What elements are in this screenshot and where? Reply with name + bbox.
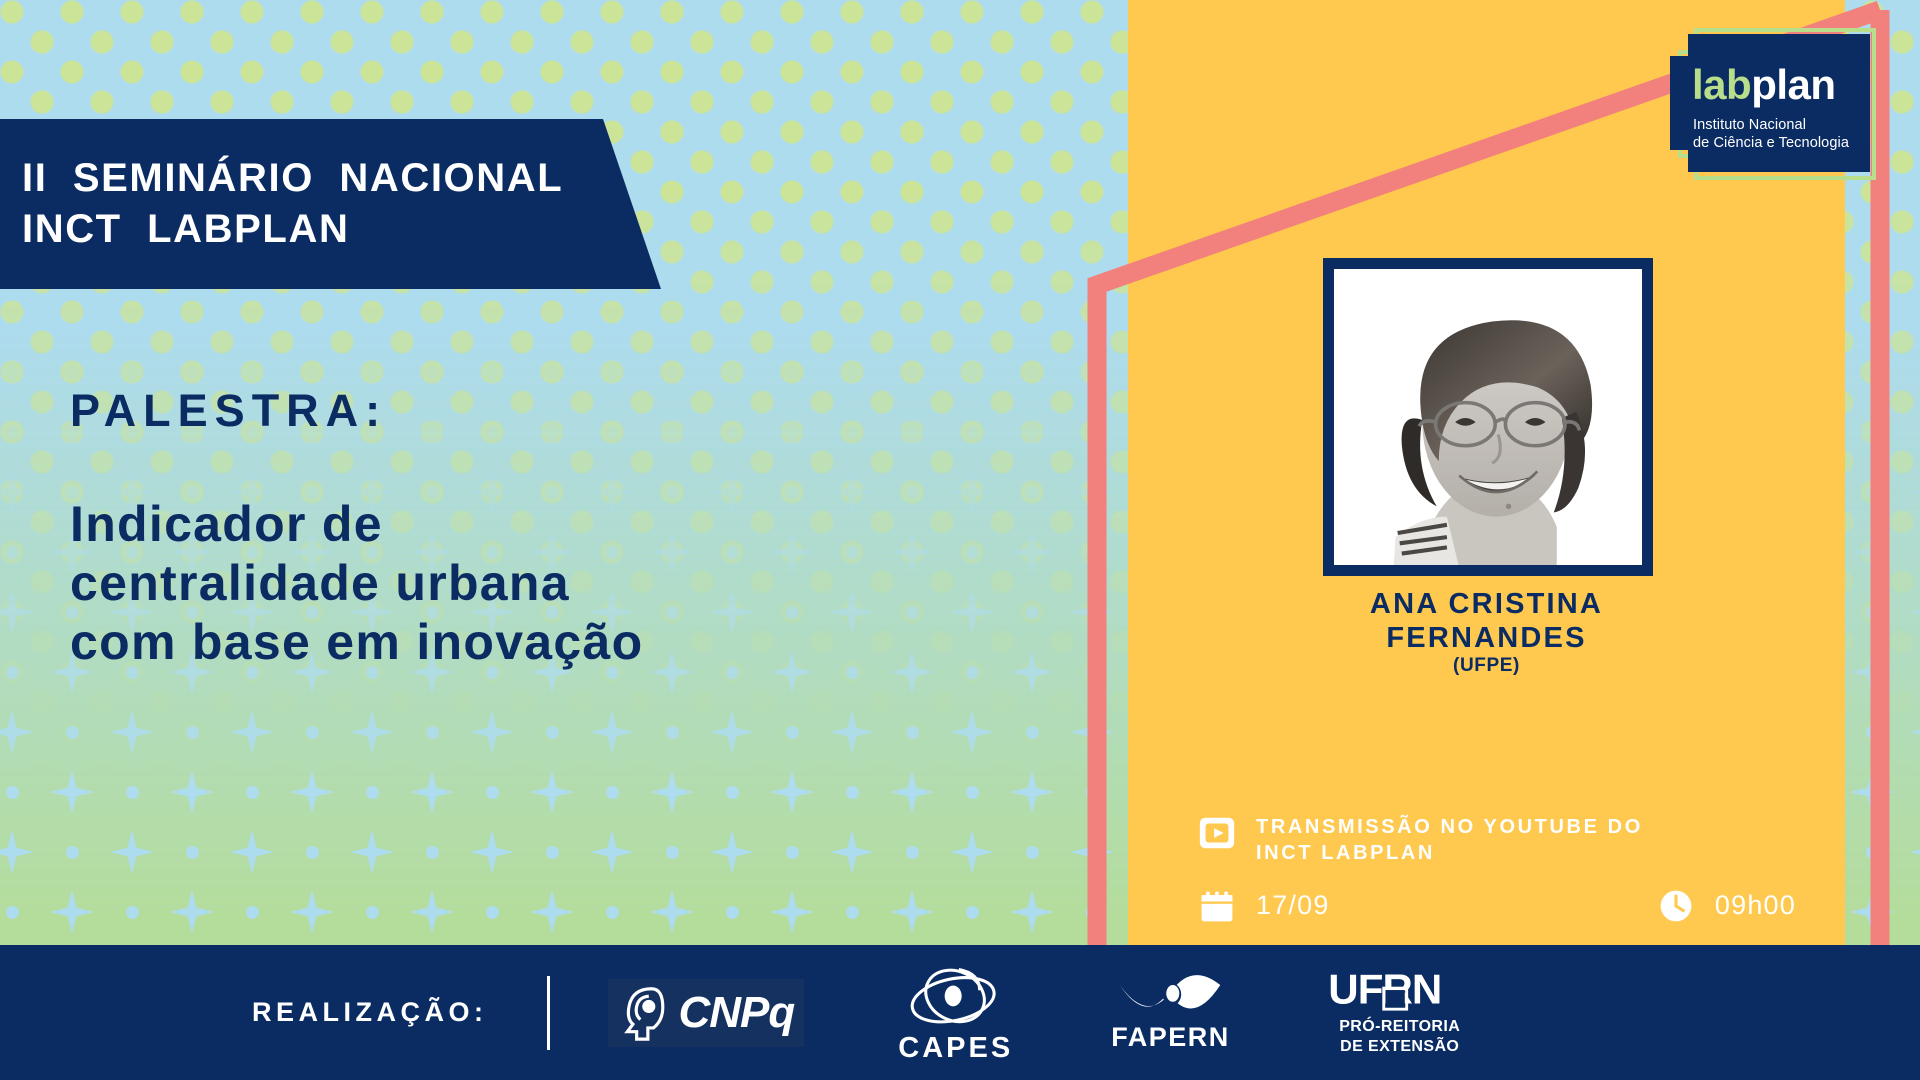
background-star [1910, 230, 1920, 274]
background-star [50, 890, 94, 934]
background-star [710, 590, 754, 634]
background-star [0, 470, 34, 514]
background-dot [726, 666, 739, 679]
cnpq-mark-icon [618, 983, 674, 1043]
background-star [110, 710, 154, 754]
background-star [710, 710, 754, 754]
clock-icon [1655, 885, 1697, 927]
background-star [530, 410, 574, 454]
background-dot [6, 306, 19, 319]
background-star [770, 770, 814, 814]
background-star [830, 350, 874, 394]
background-dot [6, 906, 19, 919]
background-star [1010, 50, 1054, 94]
background-dot [1086, 426, 1099, 439]
labplan-word-lab: lab [1692, 61, 1751, 108]
background-star [1850, 410, 1894, 454]
calendar-icon [1196, 885, 1238, 927]
footer-divider [547, 976, 550, 1050]
background-star [110, 830, 154, 874]
background-star [770, 530, 814, 574]
background-dot [1026, 366, 1039, 379]
background-star [830, 470, 874, 514]
speaker-portrait-illustration [1334, 269, 1642, 565]
background-star [1010, 650, 1054, 694]
background-star [470, 710, 514, 754]
background-star [770, 410, 814, 454]
background-dot [966, 666, 979, 679]
speaker-name: ANA CRISTINA FERNANDES [1128, 588, 1845, 655]
footer-logos: CNPq CAPES [608, 960, 1920, 1065]
background-star [1850, 770, 1894, 814]
background-dot [1086, 546, 1099, 559]
background-dot [666, 846, 679, 859]
background-star [110, 0, 154, 34]
background-star [890, 410, 934, 454]
background-dot [1086, 906, 1099, 919]
poster-canvas: II SEMINÁRIO NACIONAL INCT LABPLAN PALES… [0, 0, 1920, 1080]
background-dot [1026, 246, 1039, 259]
background-dot [426, 846, 439, 859]
labplan-subtitle-line-2: de Ciência e Tecnologia [1693, 134, 1849, 152]
background-dot [846, 186, 859, 199]
background-star [530, 770, 574, 814]
background-star [350, 830, 394, 874]
transmission-row: TRANSMISSÃO NO YOUTUBE DO INCT LABPLAN [1196, 812, 1796, 867]
background-star [590, 350, 634, 394]
background-star [890, 290, 934, 334]
background-dot [846, 906, 859, 919]
background-star [890, 530, 934, 574]
background-star [290, 290, 334, 334]
background-star [1010, 890, 1054, 934]
background-dot [846, 666, 859, 679]
background-star [1850, 290, 1894, 334]
background-star [230, 0, 274, 34]
background-dot [966, 66, 979, 79]
background-star [770, 170, 814, 214]
background-star [1910, 830, 1920, 874]
background-star [710, 350, 754, 394]
background-dot [246, 66, 259, 79]
ufrn-subtitle: PRÓ-REITORIA DE EXTENSÃO [1339, 1017, 1460, 1055]
background-star [830, 710, 874, 754]
background-star [0, 350, 34, 394]
background-dot [486, 426, 499, 439]
background-dot [66, 366, 79, 379]
background-dot [546, 6, 559, 19]
cnpq-logo: CNPq [608, 979, 804, 1047]
time-item: 09h00 [1655, 885, 1796, 927]
background-star [230, 830, 274, 874]
background-star [350, 710, 394, 754]
background-dot [246, 906, 259, 919]
background-dot [66, 6, 79, 19]
background-star [410, 290, 454, 334]
date-text: 17/09 [1256, 890, 1330, 921]
background-star [0, 0, 34, 34]
background-star [50, 290, 94, 334]
background-star [770, 890, 814, 934]
background-star [0, 830, 34, 874]
background-dot [546, 366, 559, 379]
fapern-mark-icon [1114, 972, 1226, 1026]
background-star [1850, 890, 1894, 934]
speaker-name-line-1: ANA CRISTINA [1128, 588, 1845, 622]
background-star [1070, 470, 1114, 514]
background-dot [1866, 726, 1879, 739]
background-dot [666, 126, 679, 139]
background-dot [306, 846, 319, 859]
background-dot [846, 426, 859, 439]
background-star [950, 710, 994, 754]
background-dot [486, 66, 499, 79]
labplan-word-plan: plan [1751, 61, 1835, 108]
background-star [1010, 410, 1054, 454]
background-star [950, 0, 994, 34]
background-dot [1866, 846, 1879, 859]
background-star [530, 290, 574, 334]
background-dot [486, 306, 499, 319]
background-dot [606, 66, 619, 79]
background-star [1910, 590, 1920, 634]
background-star [170, 770, 214, 814]
background-dot [1866, 606, 1879, 619]
time-text: 09h00 [1715, 890, 1796, 921]
background-star [590, 0, 634, 34]
background-dot [126, 306, 139, 319]
background-star [350, 0, 394, 34]
background-star [890, 50, 934, 94]
background-star [950, 110, 994, 154]
background-star [590, 830, 634, 874]
background-dot [786, 366, 799, 379]
background-star [1070, 710, 1114, 754]
background-dot [726, 786, 739, 799]
background-star [410, 890, 454, 934]
background-star [650, 890, 694, 934]
background-star [770, 50, 814, 94]
background-dot [606, 786, 619, 799]
background-dot [306, 6, 319, 19]
capes-wordmark: CAPES [898, 1032, 1013, 1065]
capes-logo: CAPES [898, 960, 1013, 1065]
background-star [770, 290, 814, 334]
background-dot [1086, 786, 1099, 799]
background-dot [606, 426, 619, 439]
speaker-photo-frame [1323, 258, 1653, 576]
background-star [170, 290, 214, 334]
background-star [470, 350, 514, 394]
background-star [1070, 230, 1114, 274]
background-dot [6, 546, 19, 559]
background-dot [786, 126, 799, 139]
background-dot [186, 366, 199, 379]
background-dot [6, 786, 19, 799]
background-dot [366, 786, 379, 799]
background-star [830, 830, 874, 874]
date-item: 17/09 [1196, 885, 1330, 927]
background-dot [1026, 6, 1039, 19]
background-dot [546, 726, 559, 739]
background-dot [966, 546, 979, 559]
background-star [50, 770, 94, 814]
background-dot [606, 306, 619, 319]
background-dot [426, 6, 439, 19]
fapern-wordmark: FAPERN [1111, 1022, 1230, 1053]
background-star [290, 770, 334, 814]
background-star [1010, 770, 1054, 814]
background-star [830, 0, 874, 34]
background-dot [906, 126, 919, 139]
speaker-affiliation: (UFPE) [1128, 655, 1845, 677]
background-dot [1026, 846, 1039, 859]
background-dot [726, 426, 739, 439]
background-dot [1866, 366, 1879, 379]
labplan-subtitle-line-1: Instituto Nacional [1693, 116, 1849, 134]
background-dot [1026, 126, 1039, 139]
background-star [950, 590, 994, 634]
background-dot [246, 786, 259, 799]
fapern-logo: FAPERN [1111, 972, 1230, 1053]
background-dot [966, 906, 979, 919]
background-star [1910, 710, 1920, 754]
background-star [890, 770, 934, 814]
background-dot [786, 6, 799, 19]
transmission-text-line-2: INCT LABPLAN [1256, 842, 1435, 864]
background-star [1850, 530, 1894, 574]
background-star [410, 410, 454, 454]
background-star [650, 290, 694, 334]
background-dot [366, 906, 379, 919]
transmission-text: TRANSMISSÃO NO YOUTUBE DO INCT LABPLAN [1256, 812, 1643, 867]
background-star [230, 710, 274, 754]
event-title-banner: II SEMINÁRIO NACIONAL INCT LABPLAN [0, 119, 665, 289]
background-dot [1086, 306, 1099, 319]
background-star [290, 50, 334, 94]
background-dot [1866, 486, 1879, 499]
background-dot [846, 306, 859, 319]
background-dot [126, 906, 139, 919]
background-dot [906, 6, 919, 19]
background-dot [846, 786, 859, 799]
ufrn-subtitle-line-1: PRÓ-REITORIA [1339, 1017, 1460, 1036]
background-dot [1026, 726, 1039, 739]
footer-bar: REALIZAÇÃO: CNPq [0, 945, 1920, 1080]
background-dot [1026, 486, 1039, 499]
background-star [830, 590, 874, 634]
background-star [1010, 170, 1054, 214]
background-dot [726, 306, 739, 319]
background-dot [846, 546, 859, 559]
background-star [950, 830, 994, 874]
background-star [0, 590, 34, 634]
background-dot [906, 366, 919, 379]
background-dot [306, 366, 319, 379]
background-dot [786, 486, 799, 499]
background-dot [186, 726, 199, 739]
background-dot [666, 366, 679, 379]
background-dot [966, 186, 979, 199]
background-dot [1866, 6, 1879, 19]
background-star [1850, 650, 1894, 694]
labplan-logo: labplan Instituto Nacional de Ciência e … [1660, 28, 1882, 180]
background-dot [786, 726, 799, 739]
background-star [890, 170, 934, 214]
background-dot [1866, 246, 1879, 259]
background-dot [846, 66, 859, 79]
background-dot [726, 546, 739, 559]
youtube-icon [1196, 812, 1238, 854]
background-dot [906, 486, 919, 499]
background-dot [906, 726, 919, 739]
background-dot [966, 426, 979, 439]
background-dot [6, 426, 19, 439]
background-star [710, 110, 754, 154]
background-star [710, 830, 754, 874]
background-star [1070, 350, 1114, 394]
background-dot [726, 186, 739, 199]
background-star [1910, 110, 1920, 154]
background-star [890, 650, 934, 694]
background-star [770, 650, 814, 694]
talk-kicker: PALESTRA: [70, 385, 387, 437]
background-star [50, 50, 94, 94]
background-star [710, 0, 754, 34]
background-star [410, 50, 454, 94]
background-star [530, 50, 574, 94]
background-dot [6, 666, 19, 679]
background-star [950, 230, 994, 274]
background-star [1010, 530, 1054, 574]
background-dot [126, 786, 139, 799]
background-dot [1026, 606, 1039, 619]
background-dot [666, 246, 679, 259]
background-dot [546, 846, 559, 859]
cnpq-wordmark: CNPq [678, 988, 794, 1038]
background-dot [1086, 666, 1099, 679]
background-star [650, 170, 694, 214]
background-dot [786, 246, 799, 259]
background-star [710, 230, 754, 274]
background-dot [666, 726, 679, 739]
background-star [1070, 0, 1114, 34]
background-dot [6, 66, 19, 79]
labplan-wordmark: labplan [1692, 64, 1836, 106]
background-star [1910, 0, 1920, 34]
background-star [170, 50, 214, 94]
background-dot [1086, 66, 1099, 79]
background-dot [966, 786, 979, 799]
realizacao-label: REALIZAÇÃO: [252, 997, 487, 1028]
background-star [650, 770, 694, 814]
background-star [710, 470, 754, 514]
background-star [470, 830, 514, 874]
background-star [1910, 350, 1920, 394]
background-star [890, 890, 934, 934]
background-dot [726, 906, 739, 919]
event-title-line-2: INCT LABPLAN [22, 204, 665, 255]
background-dot [366, 66, 379, 79]
speaker-photo [1334, 269, 1642, 565]
background-dot [606, 906, 619, 919]
background-star [650, 410, 694, 454]
background-dot [906, 246, 919, 259]
background-dot [186, 846, 199, 859]
background-dot [906, 606, 919, 619]
ufrn-subtitle-line-2: DE EXTENSÃO [1339, 1037, 1460, 1056]
background-star [590, 710, 634, 754]
speaker-name-line-2: FERNANDES [1128, 622, 1845, 656]
background-star [650, 50, 694, 94]
capes-mark-icon [904, 960, 1008, 1030]
background-star [1910, 470, 1920, 514]
background-dot [246, 306, 259, 319]
datetime-row: 17/09 09h00 [1196, 885, 1796, 927]
background-dot [66, 726, 79, 739]
background-dot [426, 726, 439, 739]
background-dot [186, 6, 199, 19]
background-dot [486, 906, 499, 919]
transmission-text-line-1: TRANSMISSÃO NO YOUTUBE DO [1256, 816, 1643, 838]
ufrn-logo: UFRN PRÓ-REITORIA DE EXTENSÃO [1328, 969, 1472, 1055]
background-star [950, 470, 994, 514]
background-star [470, 0, 514, 34]
ufrn-mark-icon: UFRN [1328, 969, 1472, 1013]
background-star [830, 230, 874, 274]
background-dot [486, 786, 499, 799]
background-star [410, 770, 454, 814]
background-dot [66, 846, 79, 859]
background-dot [126, 66, 139, 79]
background-star [1070, 830, 1114, 874]
talk-title: Indicador de centralidade urbana com bas… [70, 495, 690, 672]
background-star [170, 890, 214, 934]
background-dot [306, 726, 319, 739]
background-star [830, 110, 874, 154]
background-dot [906, 846, 919, 859]
background-dot [786, 846, 799, 859]
background-star [950, 350, 994, 394]
labplan-subtitle: Instituto Nacional de Ciência e Tecnolog… [1693, 116, 1849, 153]
event-title-line-1: II SEMINÁRIO NACIONAL [22, 153, 665, 204]
transmission-block: TRANSMISSÃO NO YOUTUBE DO INCT LABPLAN [1196, 812, 1796, 927]
background-dot [366, 306, 379, 319]
background-dot [786, 606, 799, 619]
background-dot [966, 306, 979, 319]
background-star [290, 890, 334, 934]
background-star [530, 890, 574, 934]
background-star [1070, 590, 1114, 634]
background-dot [726, 66, 739, 79]
background-star [1070, 110, 1114, 154]
background-dot [426, 366, 439, 379]
background-dot [666, 6, 679, 19]
background-star [0, 710, 34, 754]
background-dot [1086, 186, 1099, 199]
background-star [1010, 290, 1054, 334]
